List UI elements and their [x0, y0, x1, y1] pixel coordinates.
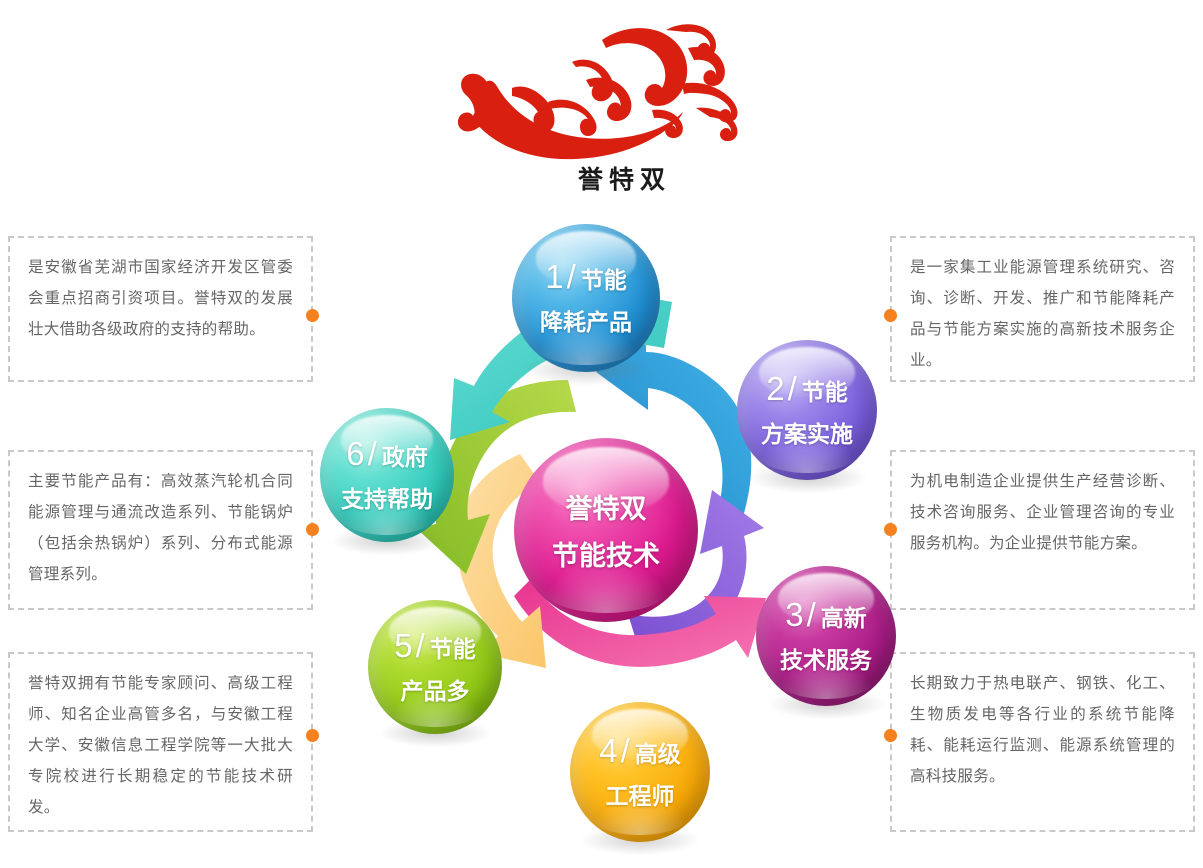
- sphere-4-slash: /: [621, 734, 630, 767]
- sphere-1-subtitle: 降耗产品: [540, 303, 632, 337]
- sphere-1-energy-saving-products[interactable]: 1 / 节能 降耗产品: [512, 224, 660, 372]
- sphere-1-slash: /: [567, 260, 576, 293]
- sphere-6-number: 6: [346, 437, 364, 470]
- sphere-3-slash: /: [807, 598, 816, 631]
- center-sphere-line1: 誉特双: [566, 487, 647, 526]
- center-sphere-line2: 节能技术: [552, 534, 660, 573]
- sphere-6-title: 政府: [382, 438, 428, 472]
- sphere-2-title: 节能: [802, 373, 848, 407]
- sphere-3-title: 高新: [821, 599, 867, 633]
- sphere-1-title: 节能: [581, 261, 627, 295]
- sphere-5-title: 节能: [430, 630, 476, 664]
- sphere-5-slash: /: [416, 629, 425, 662]
- sphere-4-subtitle: 工程师: [606, 777, 675, 811]
- sphere-4-number: 4: [599, 734, 617, 767]
- sphere-5-many-products[interactable]: 5 / 节能 产品多: [368, 600, 502, 734]
- sphere-5-subtitle: 产品多: [401, 672, 470, 706]
- sphere-2-number: 2: [766, 372, 784, 405]
- sphere-1-number: 1: [545, 260, 563, 293]
- sphere-3-number: 3: [785, 598, 803, 631]
- infographic-canvas: 誉特双: [0, 0, 1203, 868]
- sphere-3-hightech-service[interactable]: 3 / 高新 技术服务: [756, 566, 896, 706]
- sphere-3-subtitle: 技术服务: [780, 641, 872, 675]
- sphere-4-title: 高级: [635, 735, 681, 769]
- center-sphere-core-technology[interactable]: 誉特双 节能技术: [514, 438, 698, 622]
- sphere-2-subtitle: 方案实施: [761, 415, 853, 449]
- sphere-5-number: 5: [394, 629, 412, 662]
- sphere-6-subtitle: 支持帮助: [341, 480, 433, 514]
- sphere-4-senior-engineers[interactable]: 4 / 高级 工程师: [570, 702, 710, 842]
- sphere-2-slash: /: [788, 372, 797, 405]
- sphere-6-government-support[interactable]: 6 / 政府 支持帮助: [320, 408, 454, 542]
- sphere-6-slash: /: [368, 437, 377, 470]
- sphere-2-solution-implementation[interactable]: 2 / 节能 方案实施: [737, 340, 877, 480]
